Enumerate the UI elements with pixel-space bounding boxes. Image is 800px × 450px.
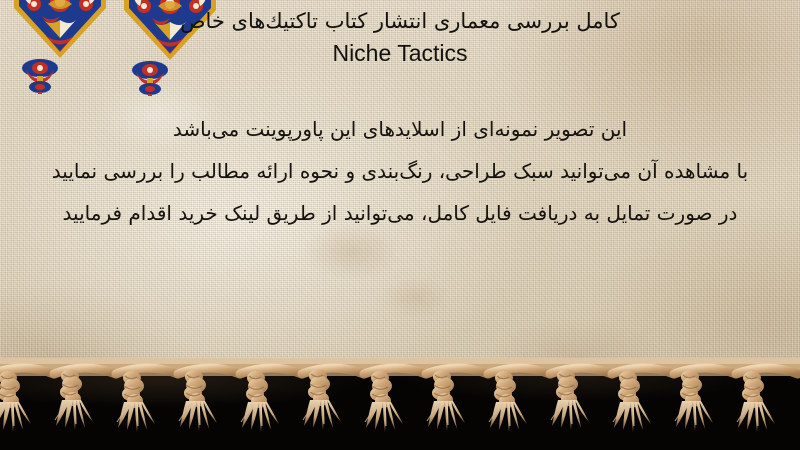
slide-body-block: این تصویر نمونه‌ای از اسلایدهای این پاور… [0,108,800,234]
presentation-slide: کامل بررسی معماری انتشار کتاب تاکتیك‌های… [0,0,800,450]
body-line-3: در صورت تمایل به دریافت فایل کامل، می‌تو… [10,192,790,234]
body-line-2: با مشاهده آن می‌توانید سبک طراحی، رنگ‌بن… [10,150,790,192]
page-title-en: Niche Tactics [14,38,786,68]
slide-title-block: کامل بررسی معماری انتشار کتاب تاکتیك‌های… [0,6,800,68]
body-line-1: این تصویر نمونه‌ای از اسلایدهای این پاور… [10,108,790,150]
page-title-fa: کامل بررسی معماری انتشار کتاب تاکتیك‌های… [14,6,786,36]
fringe-black-band [0,372,800,450]
